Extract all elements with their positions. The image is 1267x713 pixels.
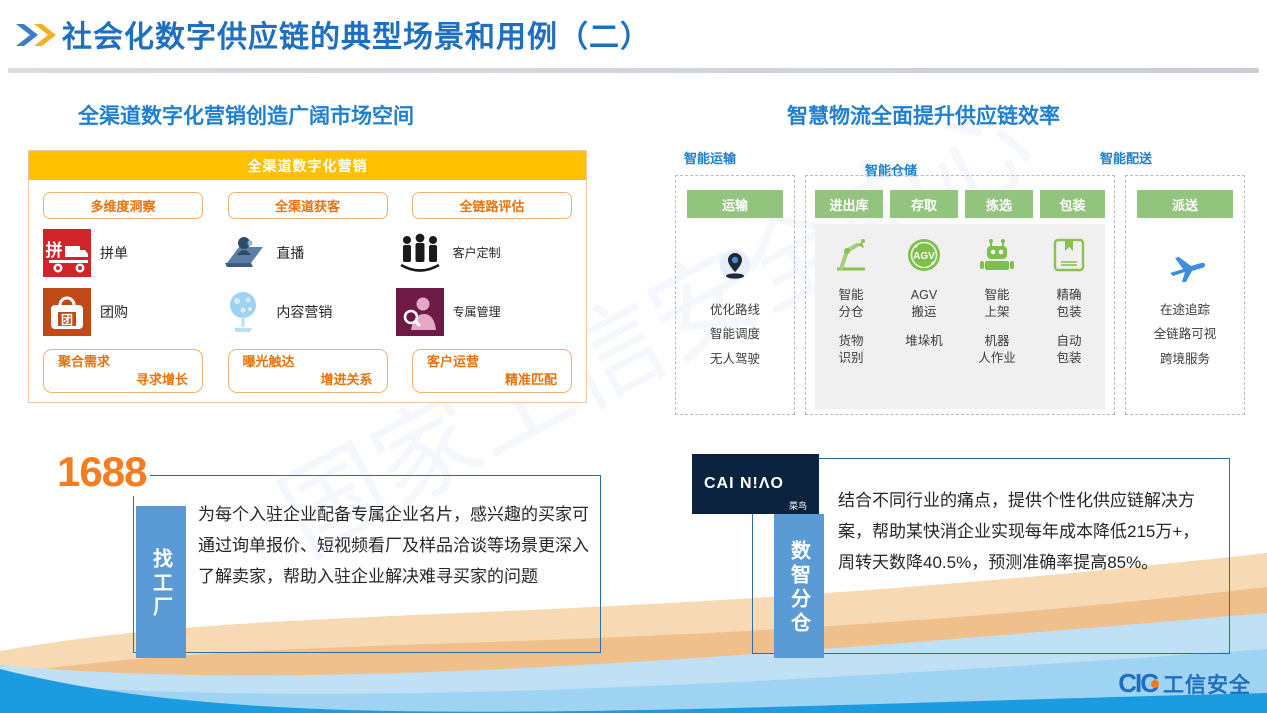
pill-line-1: 曝光触达 <box>229 353 387 371</box>
tab-find-factory[interactable]: 找工厂 <box>136 506 186 658</box>
right-section-title: 智慧物流全面提升供应链效率 <box>787 100 1060 130</box>
pill-customer-operation[interactable]: 客户运营 精准匹配 <box>412 349 572 393</box>
livestream-icon <box>219 229 267 277</box>
truck-pindan-icon: 拼 <box>43 229 91 277</box>
feature-item-pindan: 拼 拼单 <box>43 223 219 282</box>
omnichannel-marketing-panel: 全渠道数字化营销 多维度洞察 全渠道获客 全链路评估 拼 拼单 <box>28 150 587 403</box>
transport-text-list: 优化路线 智能调度 无人驾驶 <box>685 298 785 371</box>
svg-text:团: 团 <box>61 313 73 327</box>
delivery-line-2: 全链路可视 <box>1125 322 1245 346</box>
transport-line-1: 优化路线 <box>685 298 785 322</box>
pill-line-2: 精准匹配 <box>413 371 571 389</box>
feature-item-livestream: 直播 <box>219 223 395 282</box>
robot-icon <box>978 236 1016 274</box>
slide-header: 社会化数字供应链的典型场景和用例（二） <box>0 0 1267 70</box>
brand-1688: 1688 <box>53 448 150 496</box>
warehouse-column-picking: 智能上架 机器人作业 <box>963 232 1031 367</box>
warehouse-column-storage: AGV AGV搬运 堆垛机 <box>890 232 958 350</box>
top-pill-row: 多维度洞察 全渠道获客 全链路评估 <box>29 180 586 219</box>
robot-icon-wrap <box>963 232 1031 278</box>
airplane-icon <box>1167 252 1205 284</box>
user-manage-icon <box>396 288 444 336</box>
pill-exposure-reach[interactable]: 曝光触达 增进关系 <box>228 349 388 393</box>
pill-line-1: 客户运营 <box>413 353 571 371</box>
brand-cainiao: CAI N!ΛO 菜鸟 <box>692 454 819 514</box>
feature-item-dedicated-manage: 专属管理 <box>396 282 572 341</box>
feature-label: 拼单 <box>100 243 128 263</box>
cic-logo-cn: 工信安全 <box>1163 669 1251 699</box>
delivery-line-3: 跨境服务 <box>1125 347 1245 371</box>
warehouse-content-area: 智能分仓 货物识别 AGV AGV搬运 堆垛机 <box>815 224 1105 409</box>
robot-arm-icon-wrap <box>817 232 885 278</box>
feature-column-2: 直播 内容营销 <box>219 223 395 341</box>
footer-logo: CIC 工信安全 <box>1118 668 1251 699</box>
package-box-icon <box>1051 236 1087 274</box>
feature-label: 团购 <box>100 302 128 322</box>
package-box-icon-wrap <box>1035 232 1103 278</box>
warehouse-text-2: 堆垛机 <box>890 333 958 350</box>
warehouse-text-1: 精确包装 <box>1035 287 1103 321</box>
green-box-picking[interactable]: 拣选 <box>965 190 1033 218</box>
green-box-packaging[interactable]: 包装 <box>1040 190 1105 218</box>
pill-line-1: 聚合需求 <box>44 353 202 371</box>
feature-item-content-marketing: 内容营销 <box>219 282 395 341</box>
cainiao-wordmark-cn: 菜鸟 <box>789 499 807 514</box>
warehouse-column-packaging: 精确包装 自动包装 <box>1035 232 1103 367</box>
feature-label: 客户定制 <box>453 244 501 261</box>
warehouse-text-2: 自动包装 <box>1035 333 1103 367</box>
callout-cainiao-body: 结合不同行业的痛点，提供个性化供应链解决方案，帮助某快消企业实现每年成本降低21… <box>838 486 1216 579</box>
transport-line-2: 智能调度 <box>685 322 785 346</box>
warehouse-text-2: 机器人作业 <box>963 333 1031 367</box>
bag-tuangou-icon: 团 <box>43 288 91 336</box>
feature-item-tuangou: 团 团购 <box>43 282 219 341</box>
green-box-inout[interactable]: 进出库 <box>815 190 883 218</box>
customer-group-icon <box>396 229 444 277</box>
green-box-storage[interactable]: 存取 <box>890 190 958 218</box>
page-title: 社会化数字供应链的典型场景和用例（二） <box>62 12 651 56</box>
smart-logistics-panel: 智能运输 智能仓储 智能配送 运输 优化路线 智能调度 无人驾驶 进出库 存取 … <box>675 148 1255 418</box>
callout-1688: 1688 找工厂 为每个入驻企业配备专属企业名片，感兴趣的买家可通过询单报价、短… <box>48 448 608 658</box>
location-pin-icon <box>719 250 751 284</box>
pill-line-2: 增进关系 <box>229 371 387 389</box>
feature-grid: 拼 拼单 团 团购 <box>29 223 586 341</box>
transport-line-3: 无人驾驶 <box>685 347 785 371</box>
pill-line-2: 寻求增长 <box>44 371 202 389</box>
pill-fullchain-evaluation[interactable]: 全链路评估 <box>412 192 572 219</box>
feature-label: 内容营销 <box>276 302 332 322</box>
group-heading-transport: 智能运输 <box>684 148 736 167</box>
robot-arm-icon <box>831 235 871 275</box>
callout-cainiao: CAI N!ΛO 菜鸟 数智分仓 结合不同行业的痛点，提供个性化供应链解决方案，… <box>692 448 1242 658</box>
feature-column-1: 拼 拼单 团 团购 <box>43 223 219 341</box>
header-divider <box>8 68 1259 73</box>
double-chevron-right-icon <box>14 22 58 48</box>
bottom-pill-row: 聚合需求 寻求增长 曝光触达 增进关系 客户运营 精准匹配 <box>29 349 586 393</box>
delivery-text-list: 在途追踪 全链路可视 跨境服务 <box>1125 298 1245 371</box>
warehouse-text-1: AGV搬运 <box>890 287 958 321</box>
agv-badge-icon-wrap: AGV <box>890 232 958 278</box>
content-tree-icon <box>219 288 267 336</box>
svg-text:AGV: AGV <box>913 251 935 262</box>
group-heading-delivery: 智能配送 <box>1100 148 1152 167</box>
tab-digital-warehouse[interactable]: 数智分仓 <box>774 514 824 658</box>
pill-aggregate-demand[interactable]: 聚合需求 寻求增长 <box>43 349 203 393</box>
warehouse-text-1: 智能上架 <box>963 287 1031 321</box>
feature-item-custom: 客户定制 <box>396 223 572 282</box>
cainiao-wordmark: CAI N!ΛO <box>704 476 784 492</box>
delivery-line-1: 在途追踪 <box>1125 298 1245 322</box>
warehouse-text-2: 货物识别 <box>817 333 885 367</box>
warehouse-text-1: 智能分仓 <box>817 287 885 321</box>
feature-label: 直播 <box>276 243 304 263</box>
pill-omnichannel-acquisition[interactable]: 全渠道获客 <box>228 192 388 219</box>
green-box-transport[interactable]: 运输 <box>687 190 783 218</box>
left-section-title: 全渠道数字化营销创造广阔市场空间 <box>78 100 414 130</box>
warehouse-column-inout: 智能分仓 货物识别 <box>817 232 885 367</box>
pill-multidimension-insight[interactable]: 多维度洞察 <box>43 192 203 219</box>
svg-text:拼: 拼 <box>46 240 63 260</box>
cic-dot-icon <box>1151 680 1159 688</box>
feature-column-3: 客户定制 专属管理 <box>396 223 572 341</box>
agv-badge-icon: AGV <box>905 236 943 274</box>
green-box-delivery[interactable]: 派送 <box>1137 190 1233 218</box>
callout-1688-body: 为每个入驻企业配备专属企业名片，感兴趣的买家可通过询单报价、短视频看厂及样品洽谈… <box>198 500 590 593</box>
omnichannel-banner: 全渠道数字化营销 <box>29 151 586 180</box>
feature-label: 专属管理 <box>453 303 501 320</box>
